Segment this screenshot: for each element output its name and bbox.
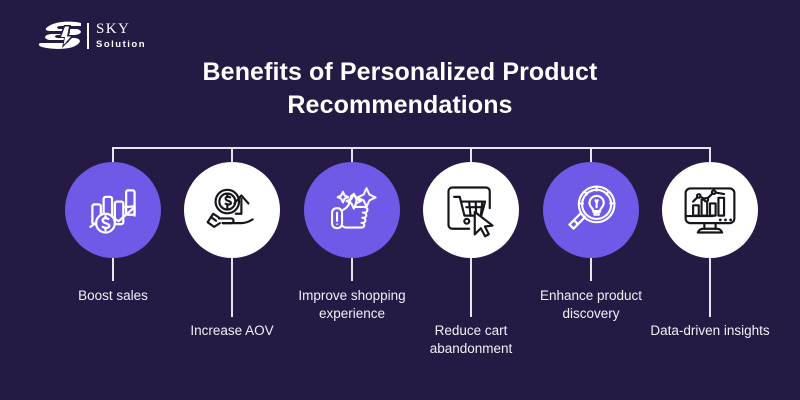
connector-drop-3 — [351, 147, 353, 163]
connector-bus — [113, 147, 710, 149]
infographic-canvas: SKY Solution Benefits of Personalized Pr… — [0, 0, 800, 400]
benefit-node-increase-aov[interactable] — [184, 162, 280, 258]
connector-drop-1 — [112, 147, 114, 163]
monitor-analytics-chart-icon — [680, 180, 740, 240]
connector-drop-5 — [590, 147, 592, 163]
benefit-node-enhance-product-discovery[interactable] — [543, 162, 639, 258]
connector-stem-4 — [470, 257, 472, 317]
bar-chart-growth-dollar-icon — [83, 180, 143, 240]
hand-coin-arrow-up-icon — [202, 180, 262, 240]
benefit-node-improve-shopping-experience[interactable] — [304, 162, 400, 258]
benefit-label-improve-shopping-experience: Improve shopping experience — [277, 287, 427, 323]
benefit-node-data-driven-insights[interactable] — [662, 162, 758, 258]
sky-swoosh-logo-icon — [38, 21, 84, 51]
logo-name: SKY — [96, 22, 146, 38]
connector-drop-4 — [470, 147, 472, 163]
benefit-label-boost-sales: Boost sales — [38, 287, 188, 305]
magnifier-lightbulb-icon — [561, 180, 621, 240]
logo-divider — [87, 23, 89, 49]
connector-drop-2 — [231, 147, 233, 163]
connector-drop-6 — [709, 147, 711, 163]
benefit-node-reduce-cart-abandonment[interactable] — [423, 162, 519, 258]
connector-stem-3 — [351, 257, 353, 281]
connector-stem-2 — [231, 257, 233, 317]
connector-stem-5 — [590, 257, 592, 281]
connector-stem-6 — [709, 257, 711, 317]
brand-logo: SKY Solution — [38, 18, 146, 54]
page-title: Benefits of Personalized Product Recomme… — [150, 56, 650, 122]
benefit-node-boost-sales[interactable] — [65, 162, 161, 258]
connector-stem-1 — [112, 257, 114, 281]
benefit-label-data-driven-insights: Data-driven insights — [635, 322, 785, 340]
shopping-cart-cursor-icon — [441, 180, 501, 240]
logo-tagline: Solution — [96, 39, 146, 50]
benefit-label-reduce-cart-abandonment: Reduce cart abandonment — [396, 322, 546, 358]
benefit-label-enhance-product-discovery: Enhance product discovery — [516, 287, 666, 323]
thumbs-up-sparkle-icon — [323, 181, 381, 239]
benefit-label-increase-aov: Increase AOV — [157, 322, 307, 340]
logo-wordmark: SKY Solution — [96, 22, 146, 50]
